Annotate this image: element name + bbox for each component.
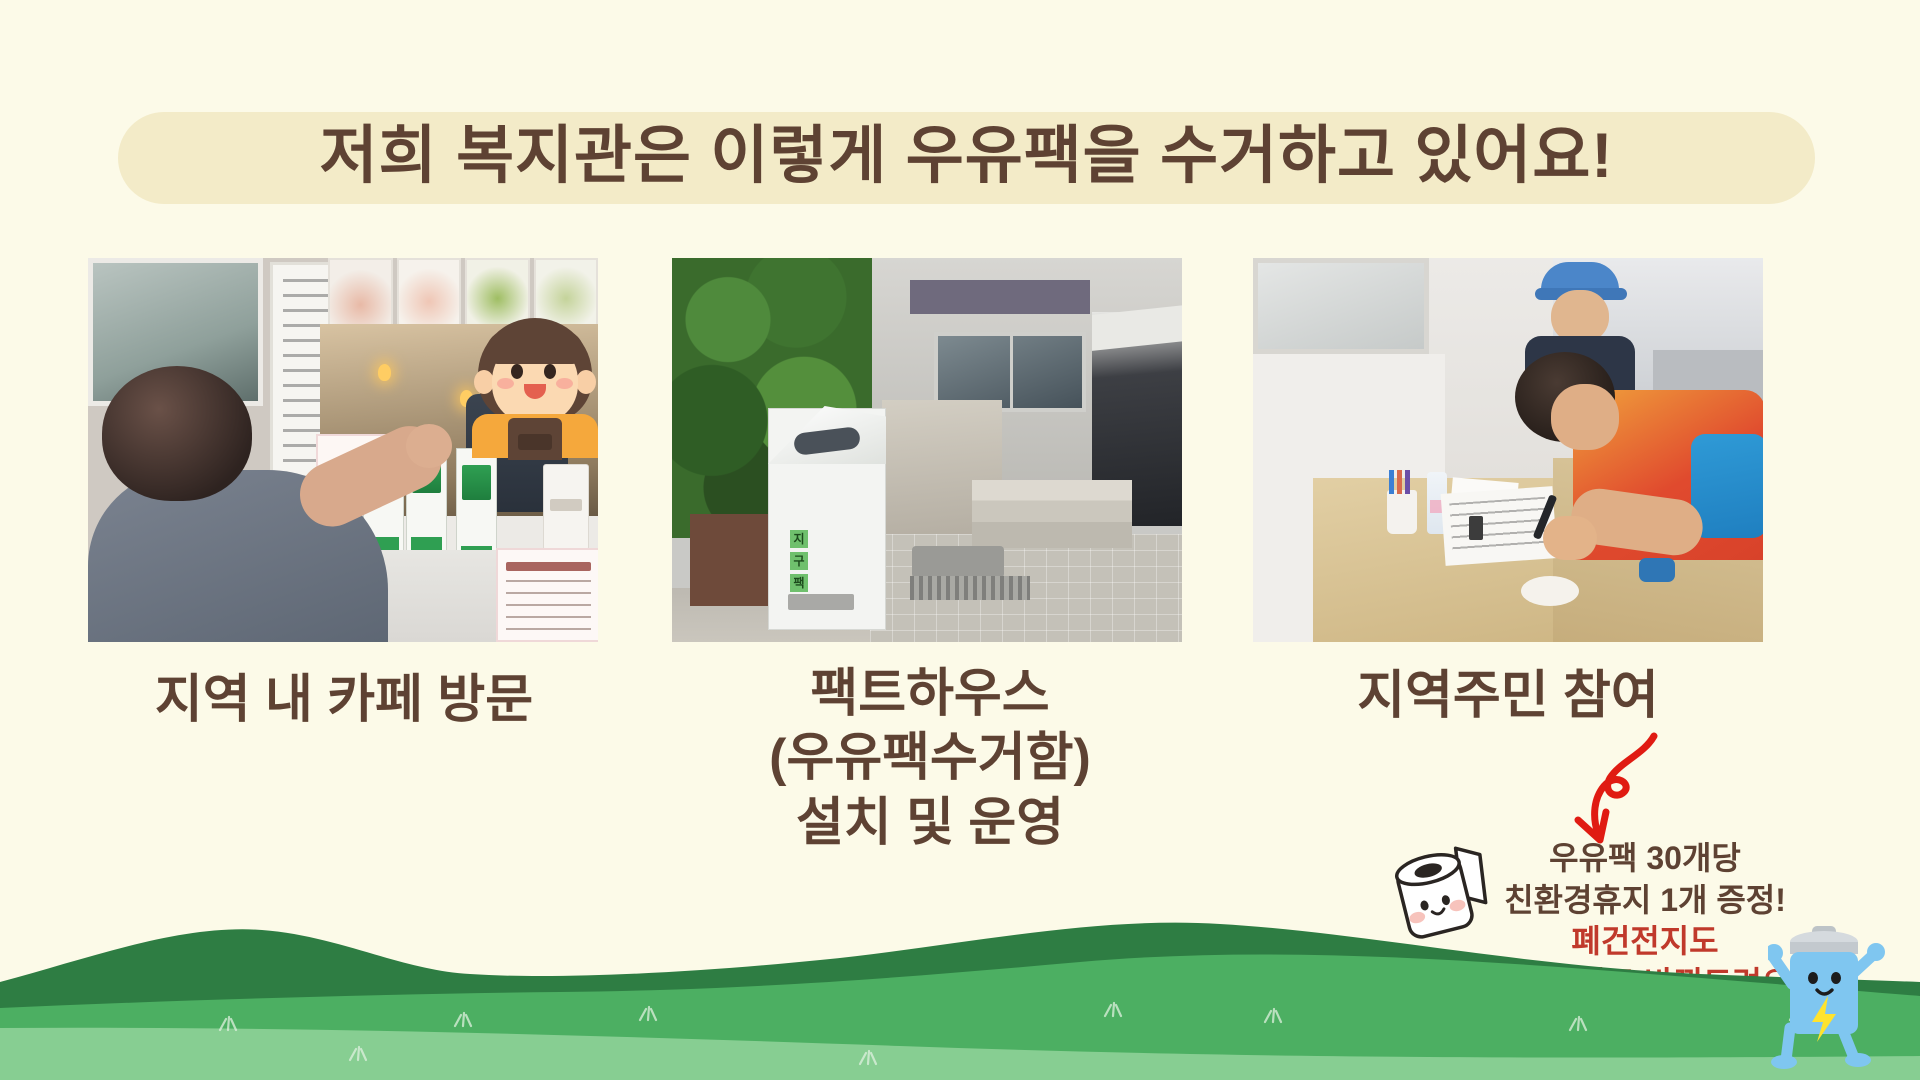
pens [1389, 470, 1415, 494]
building-awning [910, 280, 1090, 314]
milktea-sign [496, 548, 598, 642]
avatar-bangs [486, 330, 584, 364]
visitor-head [102, 366, 252, 501]
resident-hand [1543, 516, 1597, 560]
avatar-apron-pocket [518, 434, 552, 450]
standing-person-face [1551, 290, 1609, 342]
poster-4 [534, 258, 599, 326]
menu-posters [328, 258, 598, 326]
label-square-1: 지 [790, 530, 808, 548]
avatar-ear-right [576, 370, 596, 394]
resident-face [1551, 384, 1619, 450]
utensil-canister [543, 464, 589, 550]
promo-line-1: 우유팩 30개당 [1430, 838, 1860, 880]
avatar-blush-left [497, 378, 514, 389]
caption-cafe-visit: 지역 내 카페 방문 [64, 668, 624, 732]
caption-resident-participation: 지역주민 참여 [1246, 664, 1770, 728]
poster-2 [397, 258, 462, 326]
label-square-3: 팩 [790, 574, 808, 592]
utility-covers [912, 546, 1004, 578]
caption-fact-house: 팩트하우스 (우유팩수거함) 설치 및 운영 [660, 662, 1200, 855]
label-square-2: 구 [790, 552, 808, 570]
green-hills-decoration [0, 900, 1920, 1080]
photo-fact-house: 지 구 팩 [672, 258, 1182, 642]
visitor-hand [406, 424, 452, 468]
poster-1 [328, 258, 393, 326]
photo-cafe-visit [88, 258, 598, 642]
paper-doily [1521, 576, 1579, 606]
clipboard-clip [1469, 516, 1483, 540]
avatar-ear-left [474, 370, 494, 394]
battery-mascot-icon [1768, 922, 1896, 1072]
title-banner: 저희 복지관은 이렇게 우유팩을 수거하고 있어요! [118, 112, 1815, 204]
pen-holder-cup [1387, 490, 1417, 534]
poster-3 [465, 258, 530, 326]
collection-bin-label: 지 구 팩 [790, 530, 858, 594]
entrance-steps [972, 480, 1132, 548]
bin-base-shadow [788, 594, 854, 610]
avatar-eye-left [511, 364, 523, 379]
page-title: 저희 복지관은 이렇게 우유팩을 수거하고 있어요! [320, 125, 1614, 188]
wristwatch [1639, 558, 1675, 582]
frosted-window [1253, 258, 1429, 354]
pendant-bulb-icon [378, 364, 391, 381]
avatar-blush-right [556, 378, 573, 389]
cafe-staff-avatar-icon [472, 318, 598, 456]
milk-carton [456, 448, 497, 566]
photo-resident-signing [1253, 258, 1763, 642]
avatar-eye-right [544, 364, 556, 379]
drain-grate [910, 576, 1030, 600]
